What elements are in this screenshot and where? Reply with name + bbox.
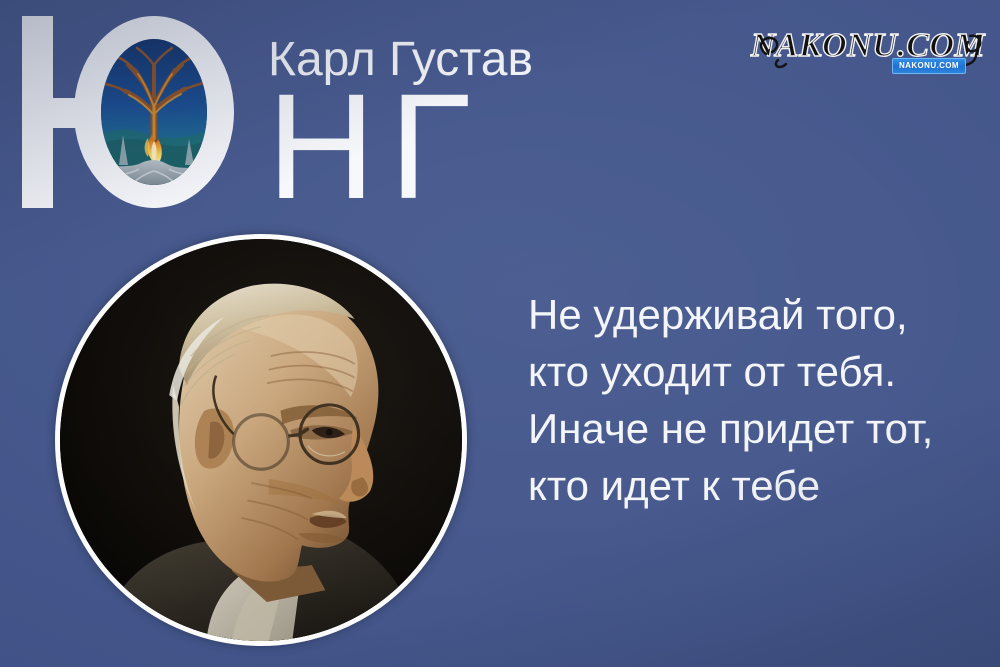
tree-of-life-icon (101, 39, 207, 185)
brand-badge[interactable]: NAKONU.COM (892, 58, 966, 74)
quote-line: кто уходит от тебя. (528, 343, 988, 400)
site-watermark[interactable]: NAKONU.COM NAKONU.COM (750, 14, 986, 90)
letter-yu-monogram (22, 16, 234, 208)
quote-line: Иначе не придет тот, (528, 400, 988, 457)
surname-remainder-label: НГ (267, 88, 485, 205)
name-title-block: Карл Густав НГ (0, 0, 540, 215)
quote-line: Не удерживай того, (528, 286, 988, 343)
letter-yu-stem (22, 16, 53, 208)
quote-card-canvas: Карл Густав НГ (0, 0, 1000, 667)
portrait-photo (55, 234, 467, 646)
quote-line: кто идет к тебе (528, 457, 988, 514)
quote-text: Не удерживай того, кто уходит от тебя. И… (528, 286, 988, 514)
